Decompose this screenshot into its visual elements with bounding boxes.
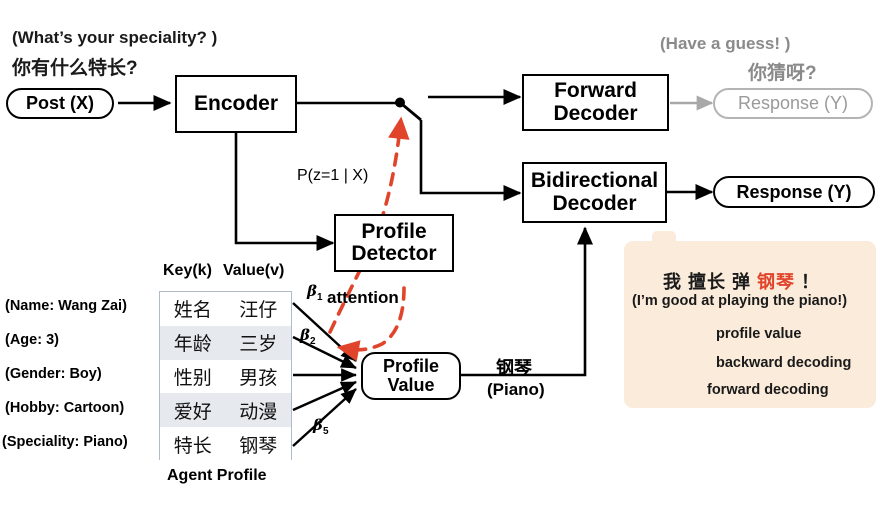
legend-sentence-part2: ！ [795, 272, 820, 292]
forward-decoder-label-line1: Forward [553, 80, 637, 102]
profile-value-label: Profile Value [383, 357, 439, 395]
faded-response-pill[interactable]: Response (Y) [713, 88, 873, 119]
beta-5-label: β5 [313, 416, 329, 437]
edge-switch-to-bidirectional-decoder [421, 120, 520, 193]
guess-prompt-en: (Have a guess! ) [660, 34, 790, 54]
guess-prompt-zh: 你猜呀? [748, 58, 817, 85]
row-value: 汪仔 [226, 295, 292, 322]
agent-profile-table[interactable]: 姓名 汪仔 年龄 三岁 性别 男孩 爱好 动漫 特长 钢琴 [159, 291, 292, 460]
profile-value-box[interactable]: Profile Value [361, 352, 461, 400]
forward-decoder-box[interactable]: Forward Decoder [522, 74, 669, 131]
forward-decoder-label-line2: Decoder [553, 103, 637, 125]
table-row[interactable]: 特长 钢琴 [160, 427, 291, 461]
input-question-zh: 你有什么特长? [12, 53, 138, 80]
bidirectional-decoder-box[interactable]: Bidirectional Decoder [522, 162, 667, 223]
table-row[interactable]: 性别 男孩 [160, 360, 291, 394]
agent-profile-caption: Agent Profile [167, 467, 267, 485]
value-output-zh: 钢琴 [496, 354, 532, 380]
row-key: 性别 [160, 363, 226, 390]
legend-translation: (I’m good at playing the piano!) [632, 293, 847, 309]
value-output-en: (Piano) [487, 380, 545, 400]
row-gloss-name: (Name: Wang Zai) [5, 298, 127, 314]
encoder-box[interactable]: Encoder [175, 75, 297, 133]
forward-decoder-label: Forward Decoder [553, 80, 637, 125]
table-header-key: Key(k) [163, 262, 212, 280]
profile-detector-label: Profile Detector [351, 221, 436, 266]
legend-item-forward-decoding: forward decoding [707, 382, 829, 398]
row-key: 特长 [160, 431, 226, 458]
row-key: 姓名 [160, 295, 226, 322]
table-header-value: Value(v) [223, 262, 284, 280]
beta-2-label: β2 [300, 326, 316, 347]
legend-sentence-part1: 我 擅长 弹 [663, 272, 757, 292]
legend-sentence: 我 擅长 弹 钢琴 ！ [663, 268, 820, 294]
beta-1-label: β1 [307, 282, 323, 303]
row-gloss-age: (Age: 3) [5, 332, 59, 348]
bidirectional-decoder-label: Bidirectional Decoder [531, 170, 658, 215]
profile-detector-box[interactable]: Profile Detector [334, 214, 454, 272]
bidirectional-decoder-label-line1: Bidirectional [531, 170, 658, 192]
final-response-label: Response (Y) [736, 182, 851, 203]
legend-sentence-highlight: 钢琴 [757, 272, 795, 292]
row-value: 三岁 [226, 329, 292, 356]
row-gloss-hobby: (Hobby: Cartoon) [5, 400, 124, 416]
profile-value-label-line2: Value [383, 376, 439, 395]
legend-item-profile-value: profile value [716, 326, 801, 342]
row-gloss-speciality: (Speciality: Piano) [2, 434, 128, 450]
post-input-pill[interactable]: Post (X) [6, 88, 114, 119]
faded-response-label: Response (Y) [738, 93, 848, 114]
table-row[interactable]: 年龄 三岁 [160, 326, 291, 360]
switch-lever [400, 103, 421, 121]
attention-label: attention [327, 288, 399, 308]
post-input-label: Post (X) [26, 93, 94, 114]
row-key: 年龄 [160, 329, 226, 356]
input-question-en: (What’s your speciality? ) [12, 28, 217, 48]
row-value: 男孩 [226, 363, 292, 390]
encoder-label: Encoder [194, 93, 278, 115]
row-gloss-gender: (Gender: Boy) [5, 366, 102, 382]
gate-probability-label: P(z=1 | X) [297, 167, 368, 185]
profile-detector-label-line2: Detector [351, 243, 436, 265]
legend-item-backward-decoding: backward decoding [716, 355, 851, 371]
final-response-pill[interactable]: Response (Y) [713, 176, 875, 208]
edge-encoder-to-profile-detector [236, 133, 333, 243]
row-value: 钢琴 [226, 431, 292, 458]
profile-value-label-line1: Profile [383, 357, 439, 376]
edge-profile-value-to-bidirectional-decoder [461, 228, 585, 375]
row-value: 动漫 [226, 397, 292, 424]
bidirectional-decoder-label-line2: Decoder [531, 193, 658, 215]
table-row[interactable]: 姓名 汪仔 [160, 292, 291, 326]
row-key: 爱好 [160, 397, 226, 424]
profile-detector-label-line1: Profile [351, 221, 436, 243]
diagram-canvas: (What’s your speciality? ) 你有什么特长? Post … [0, 0, 881, 519]
table-row[interactable]: 爱好 动漫 [160, 393, 291, 427]
